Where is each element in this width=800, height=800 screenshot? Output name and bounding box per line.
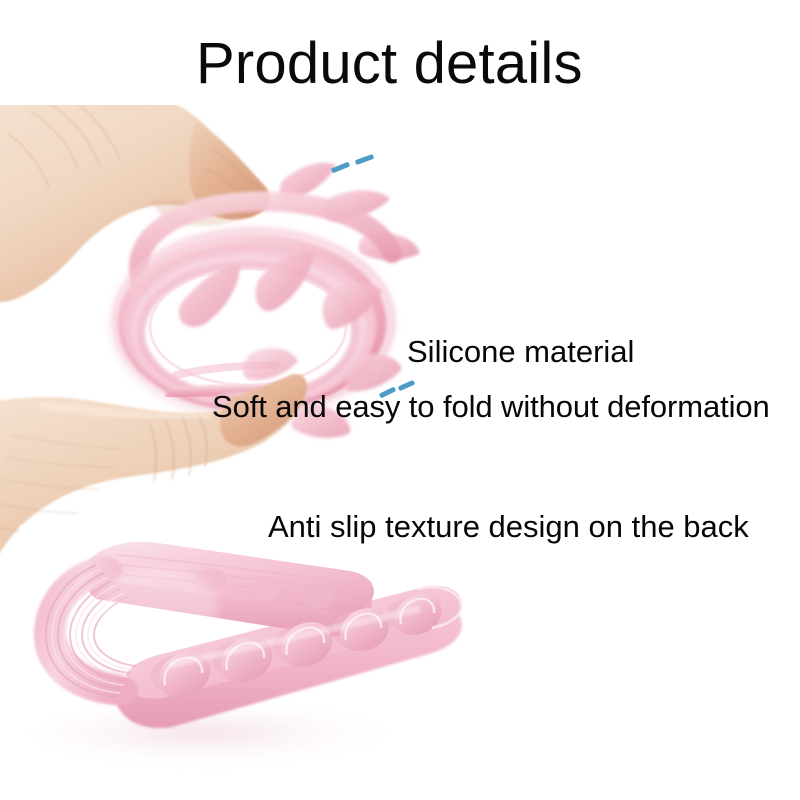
caption-anti-slip: Anti slip texture design on the back: [268, 508, 749, 546]
page-title: Product details: [196, 31, 636, 97]
caption-silicone-material: Silicone material: [407, 333, 634, 371]
caption-soft-fold: Soft and easy to fold without deformatio…: [212, 388, 770, 426]
photo-organizer-arched: [20, 525, 490, 785]
photo-hand-folding-organizer: [0, 105, 460, 565]
product-details-page: Product details: [0, 0, 800, 800]
